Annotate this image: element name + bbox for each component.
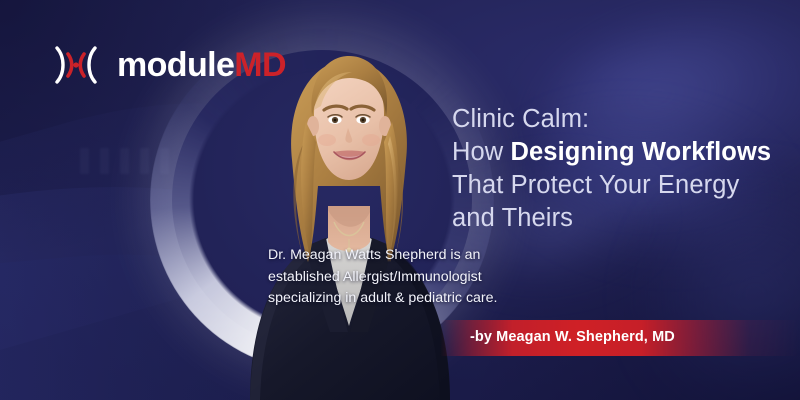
brand-name-primary: module xyxy=(117,46,234,84)
brand-wordmark: moduleMD xyxy=(117,48,286,82)
headline-line-3: That Protect Your Energy xyxy=(452,169,788,202)
subtitle: Dr. Meagan Watts Shepherd is an establis… xyxy=(268,245,568,310)
headline: Clinic Calm: How Designing Workflows Tha… xyxy=(452,103,788,236)
subtitle-line-2: established Allergist/Immunologist xyxy=(268,267,568,289)
headline-line-2-emphasis: Designing Workflows xyxy=(511,138,772,166)
headline-line-1: Clinic Calm: xyxy=(452,103,788,136)
modulemd-logo-mark xyxy=(48,44,104,86)
subtitle-line-3: specializing in adult & pediatric care. xyxy=(268,288,568,310)
headline-line-2-prefix: How xyxy=(452,138,511,166)
subtitle-line-1: Dr. Meagan Watts Shepherd is an xyxy=(268,245,568,267)
brand-logo[interactable]: moduleMD xyxy=(48,44,286,86)
headline-line-4: and Theirs xyxy=(452,202,788,235)
promo-banner: moduleMD Clinic Calm: How Designing Work… xyxy=(0,0,800,400)
brand-name-suffix: MD xyxy=(234,46,286,84)
byline-text: -by Meagan W. Shepherd, MD xyxy=(470,329,675,345)
headline-line-2: How Designing Workflows xyxy=(452,136,788,169)
